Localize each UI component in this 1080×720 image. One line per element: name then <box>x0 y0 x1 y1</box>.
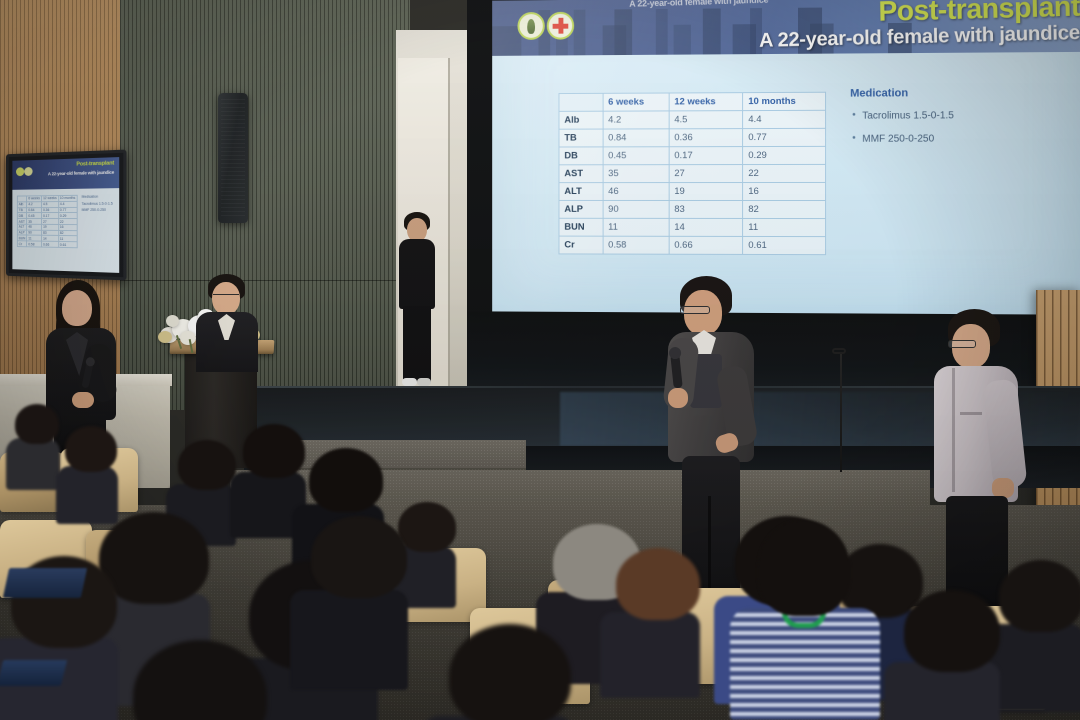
monitor-cell: 0.61 <box>58 242 77 248</box>
table-cell: 0.66 <box>669 236 743 254</box>
table-row: AST352722 <box>559 164 826 182</box>
eyeglasses-icon <box>213 294 239 300</box>
monitor-row: Cr0.580.660.61 <box>17 241 77 248</box>
table-row-label: TB <box>559 129 603 147</box>
slide-title-group: Post-transplant A 22-year-old female wit… <box>759 0 1080 50</box>
table-cell: 90 <box>603 200 669 218</box>
wall-speaker-icon <box>218 93 248 223</box>
laptop-screen <box>3 568 87 598</box>
audience-head <box>449 624 571 720</box>
monitor-lab-table: 6 weeks12 weeks10 monthsAlb4.24.54.4TB0.… <box>17 195 78 248</box>
table-cell: 11 <box>603 218 669 236</box>
monitor-title-main: Post-transplant <box>76 160 114 167</box>
tablet-screen <box>0 660 67 686</box>
monitor-med-item: Tacrolimus 1.5-0-1.5 <box>82 201 114 205</box>
audience-head <box>904 590 1000 672</box>
person-by-doorway <box>396 212 438 390</box>
table-row: TB0.840.360.77 <box>559 128 826 147</box>
monitor-cell: 0.66 <box>42 241 59 247</box>
audience-member <box>894 590 1010 720</box>
projection-screen: A 22-year-old female with jaundice Post-… <box>492 0 1080 315</box>
audience-head <box>309 448 383 512</box>
audience-shoulders <box>6 438 60 490</box>
table-cell: 16 <box>743 182 826 200</box>
table-row-label: ALT <box>559 183 603 201</box>
audience-shoulders <box>600 612 700 698</box>
table-corner-cell <box>559 93 603 111</box>
table-cell: 0.45 <box>603 147 669 165</box>
table-row: Alb4.24.54.4 <box>559 110 826 129</box>
audience-head <box>65 426 117 472</box>
table-cell: 4.2 <box>603 111 669 129</box>
table-col-header: 12 weeks <box>669 93 743 111</box>
audience-shoulders <box>290 590 408 690</box>
audience-member-striped-shirt <box>730 520 880 720</box>
table-cell: 83 <box>669 200 743 218</box>
medication-item: Tacrolimus 1.5-0-1.5 <box>850 110 1053 122</box>
table-cell: 27 <box>669 165 743 183</box>
table-cell: 0.77 <box>743 128 826 146</box>
monitor-title-sub: A 22-year-old female with jaundice <box>48 170 114 177</box>
table-row-label: DB <box>559 147 603 165</box>
audience-head <box>999 560 1080 632</box>
medication-heading: Medication <box>850 87 1053 100</box>
table-cell: 11 <box>743 218 826 236</box>
table-cell: 0.61 <box>743 236 826 254</box>
audience-member <box>300 516 418 698</box>
microphone-stand <box>840 352 842 472</box>
table-row-label: AST <box>559 165 603 183</box>
confidence-monitor: Post-transplant A 22-year-old female wit… <box>6 150 126 281</box>
table-cell: 0.36 <box>669 129 743 147</box>
eyeglasses-icon <box>948 340 976 348</box>
monitor-row-label: Cr <box>17 241 27 247</box>
table-row: ALT461916 <box>559 182 826 200</box>
flower-bloom <box>158 331 172 343</box>
table-col-header: 10 months <box>743 92 826 110</box>
table-cell: 0.58 <box>603 236 669 254</box>
audience-member <box>436 624 584 720</box>
table-row: ALP908382 <box>559 200 826 218</box>
table-cell: 82 <box>743 200 826 218</box>
slide-body: 6 weeks12 weeks10 monthsAlb4.24.54.4TB0.… <box>492 52 1080 315</box>
audience-member <box>608 548 708 706</box>
man-at-podium <box>192 272 272 368</box>
table-cell: 0.84 <box>603 129 669 147</box>
table-cell: 46 <box>603 183 669 201</box>
microphone-stand-head <box>832 348 846 354</box>
audience-head <box>178 440 236 490</box>
monitor-slide-body: 6 weeks12 weeks10 monthsAlb4.24.54.4TB0.… <box>12 188 119 273</box>
table-cell: 4.5 <box>669 111 743 129</box>
audience-member <box>120 640 280 720</box>
audience-head <box>758 520 850 616</box>
table-row-label: Alb <box>559 111 603 129</box>
table-row-label: BUN <box>559 218 603 236</box>
monitor-med-heading: Medication <box>82 194 114 198</box>
table-cell: 14 <box>669 218 743 236</box>
table-header-row: 6 weeks12 weeks10 months <box>559 92 826 111</box>
medication-block: Medication Tacrolimus 1.5-0-1.5 MMF 250-… <box>850 87 1053 157</box>
audience-head <box>15 404 59 444</box>
table-row-label: ALP <box>559 200 603 218</box>
eyeglasses-icon <box>680 306 710 314</box>
slide-logos <box>517 12 574 40</box>
monitor-medication-block: Medication Tacrolimus 1.5-0-1.5 MMF 250-… <box>82 194 114 214</box>
flower-bloom <box>166 315 179 327</box>
table-cell: 22 <box>743 164 826 182</box>
table-cell: 0.29 <box>743 146 826 164</box>
table-cell: 19 <box>669 183 743 201</box>
table-col-header: 6 weeks <box>603 93 669 111</box>
table-row-label: Cr <box>559 236 603 254</box>
table-cell: 4.4 <box>743 110 826 128</box>
monitor-med-item: MMF 250-0-250 <box>82 208 114 212</box>
table-row: DB0.450.170.29 <box>559 146 826 164</box>
monitor-cell: 0.58 <box>27 241 42 247</box>
red-cross-icon <box>547 12 574 40</box>
slide-header: A 22-year-old female with jaundice Post-… <box>492 0 1080 56</box>
monitor-logo-icon <box>16 167 24 176</box>
audience-head <box>311 516 407 598</box>
table-row: BUN111411 <box>559 218 826 236</box>
audience-head <box>616 548 700 620</box>
audience-head <box>133 640 267 720</box>
table-row: Cr0.580.660.61 <box>559 236 826 255</box>
hospital-emblem-icon <box>517 12 544 40</box>
lab-results-table: 6 weeks12 weeks10 monthsAlb4.24.54.4TB0.… <box>558 92 826 255</box>
table-cell: 0.17 <box>669 147 743 165</box>
table-cell: 35 <box>603 165 669 183</box>
auditorium-scene: Post-transplant A 22-year-old female wit… <box>0 0 1080 720</box>
medication-item: MMF 250-0-250 <box>850 133 1053 145</box>
monitor-slide-header: Post-transplant A 22-year-old female wit… <box>12 157 119 190</box>
confidence-monitor-screen: Post-transplant A 22-year-old female wit… <box>12 157 119 273</box>
audience-head <box>243 424 305 478</box>
